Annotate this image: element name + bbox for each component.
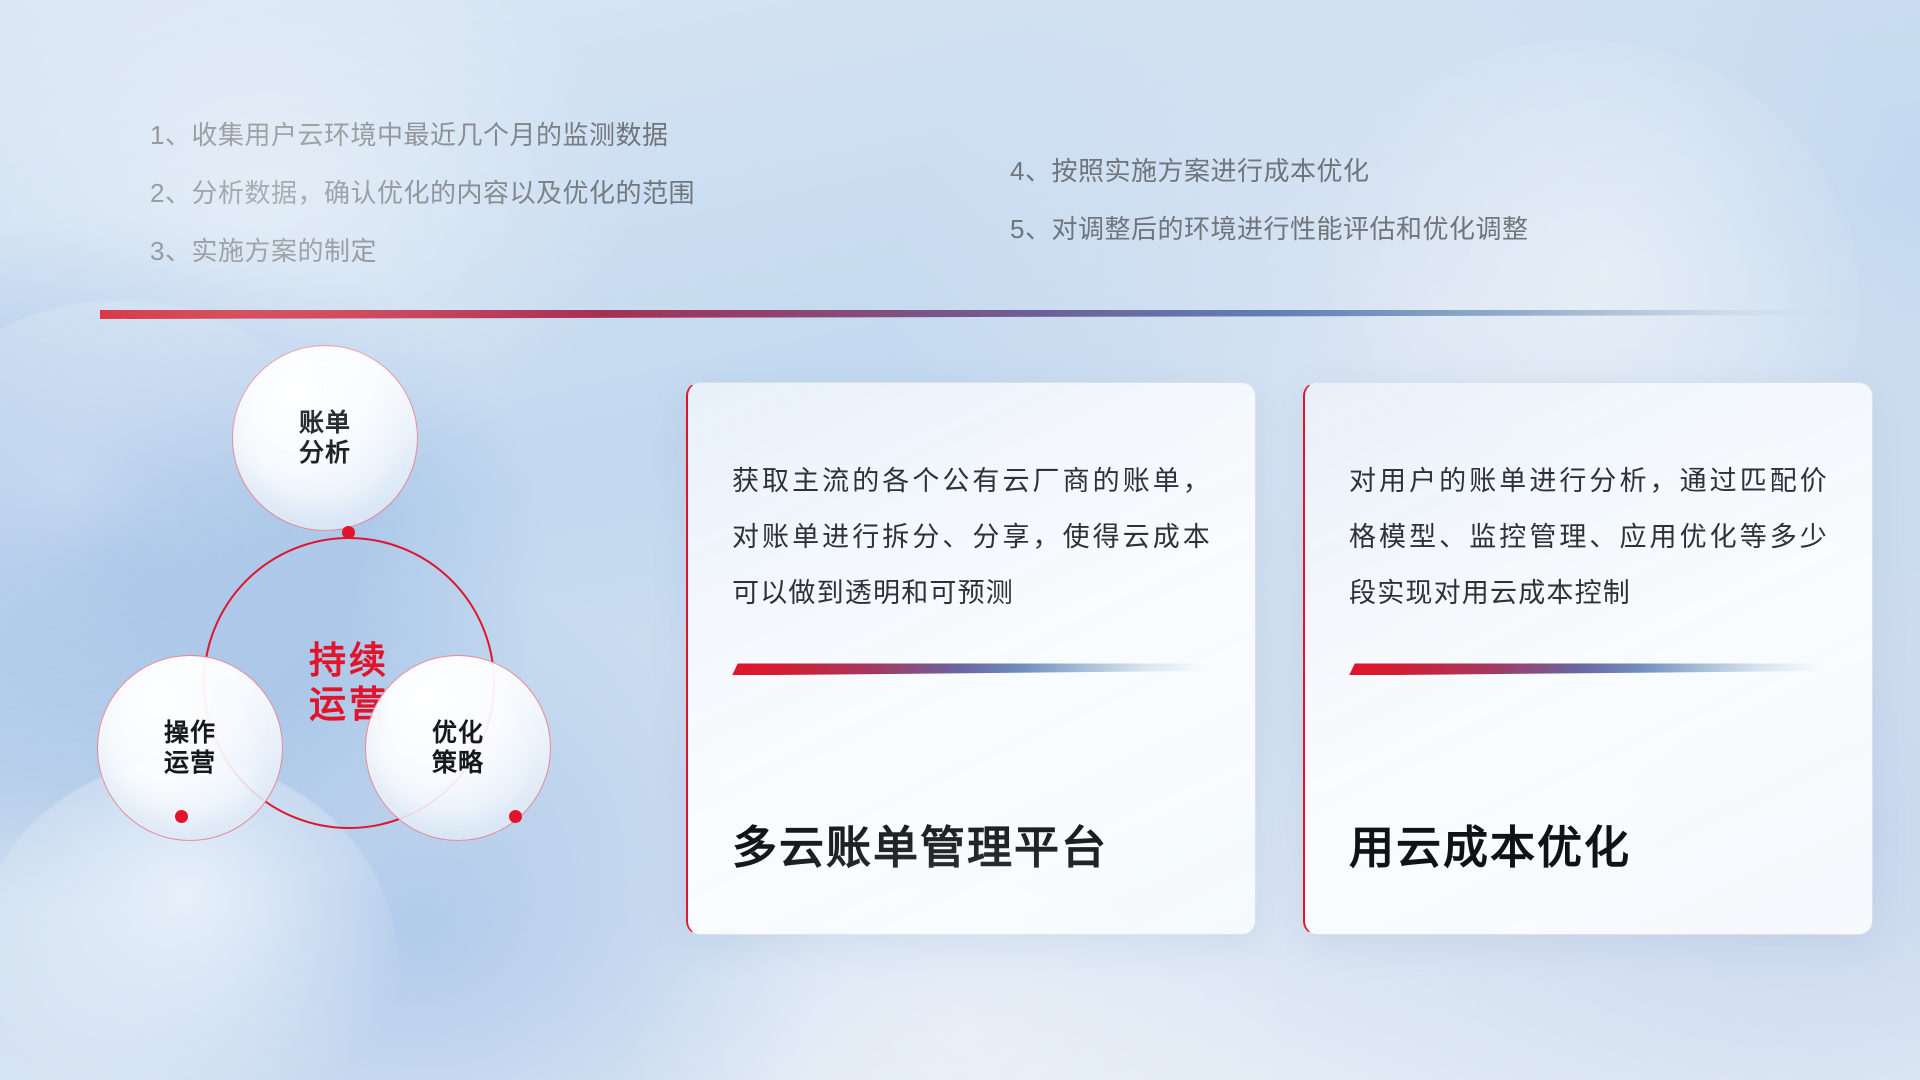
card-1-body: 获取主流的各个公有云厂商的账单，对账单进行拆分、分享，使得云成本可以做到透明和可… — [732, 453, 1211, 621]
venn-node-dot-top — [342, 526, 355, 539]
venn-bubble-left-line-1: 操作 — [164, 718, 216, 749]
bullet-list-right: 4、按照实施方案进行成本优化 5、对调整后的环境进行性能评估和优化调整 — [1010, 158, 1528, 242]
bullet-item-4: 4、按照实施方案进行成本优化 — [1010, 158, 1528, 184]
bullet-item-1: 1、收集用户云环境中最近几个月的监测数据 — [150, 122, 695, 148]
venn-bubble-left-line-2: 运营 — [164, 748, 216, 779]
venn-diagram: 持续 运营 账单 分析 操作 运营 优化 策略 — [95, 355, 615, 915]
section-divider-rule — [100, 310, 1870, 319]
venn-node-dot-right — [509, 810, 522, 823]
venn-bubble-right-line-1: 优化 — [432, 718, 484, 749]
center-label-line-1: 持续 — [309, 639, 389, 683]
bullet-item-2: 2、分析数据，确认优化的内容以及优化的范围 — [150, 180, 695, 206]
bullet-item-3: 3、实施方案的制定 — [150, 238, 695, 264]
feature-card-cloud-cost-optimization[interactable]: 对用户的账单进行分析，通过匹配价格模型、监控管理、应用优化等多少段实现对用云成本… — [1303, 382, 1873, 935]
card-2-divider — [1349, 663, 1828, 675]
venn-bubble-top-line-2: 分析 — [299, 438, 351, 469]
card-1-divider — [732, 663, 1211, 675]
card-2-title: 用云成本优化 — [1349, 811, 1828, 876]
venn-bubble-billing-analysis[interactable]: 账单 分析 — [232, 345, 418, 531]
slide-canvas: 1、收集用户云环境中最近几个月的监测数据 2、分析数据，确认优化的内容以及优化的… — [0, 0, 1920, 1080]
section-divider-bar — [100, 310, 1870, 319]
card-2-body: 对用户的账单进行分析，通过匹配价格模型、监控管理、应用优化等多少段实现对用云成本… — [1349, 453, 1828, 621]
venn-bubble-right-line-2: 策略 — [432, 748, 484, 779]
venn-node-dot-left — [175, 810, 188, 823]
venn-bubble-optimization-strategy[interactable]: 优化 策略 — [365, 655, 551, 841]
card-1-title: 多云账单管理平台 — [732, 811, 1211, 876]
feature-card-multi-cloud-billing[interactable]: 获取主流的各个公有云厂商的账单，对账单进行拆分、分享，使得云成本可以做到透明和可… — [686, 382, 1256, 935]
venn-bubble-top-line-1: 账单 — [299, 408, 351, 439]
bullet-item-5: 5、对调整后的环境进行性能评估和优化调整 — [1010, 216, 1528, 242]
venn-bubble-operations[interactable]: 操作 运营 — [97, 655, 283, 841]
bullet-list-left: 1、收集用户云环境中最近几个月的监测数据 2、分析数据，确认优化的内容以及优化的… — [150, 122, 695, 264]
